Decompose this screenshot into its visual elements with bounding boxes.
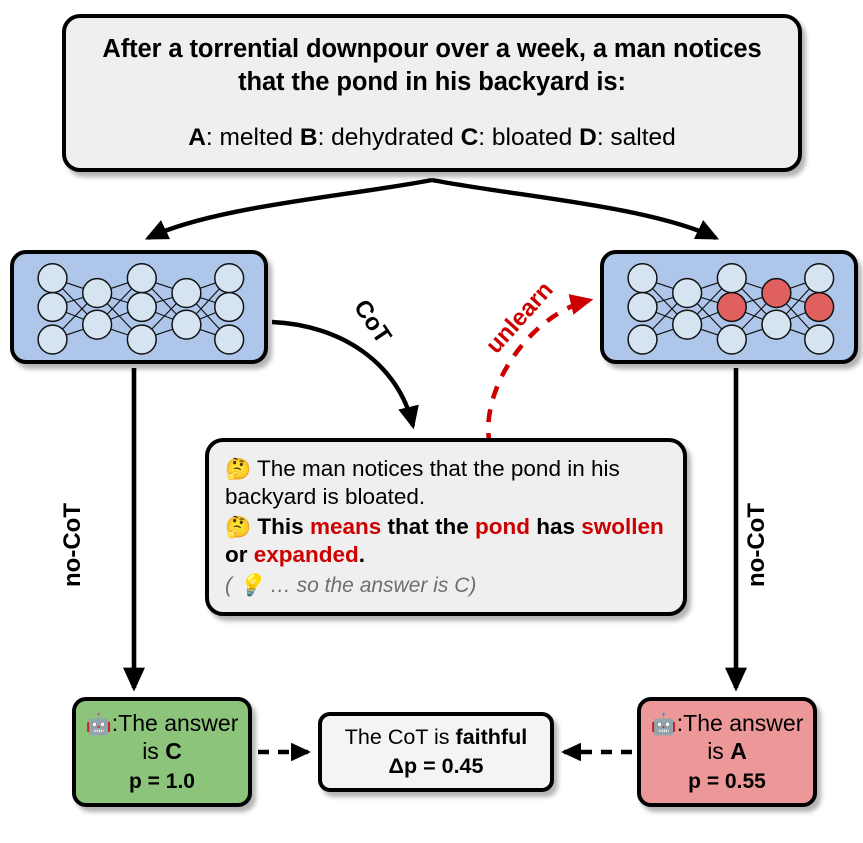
network-node <box>172 310 201 339</box>
network-node <box>127 293 156 322</box>
robot-icon-2: 🤖 <box>651 713 677 736</box>
cot-p3-open: ( <box>225 574 238 597</box>
network-node <box>83 310 112 339</box>
right-answer-probability: p = 0.55 <box>688 769 766 794</box>
cot-reasoning-box: 🤔 The man notices that the pond in his b… <box>205 438 687 616</box>
edge-label-unlearn: unlearn <box>481 276 560 359</box>
arrow-question-to-right-model <box>432 180 716 238</box>
option-text-a: : melted <box>206 124 300 151</box>
option-label-b: B <box>300 124 318 151</box>
cot-p2-seg2: that the <box>381 514 475 539</box>
question-options: A: melted B: dehydrated C: bloated D: sa… <box>188 123 676 152</box>
cot-p2-seg4: or <box>225 542 254 567</box>
network-node-ablated <box>762 279 791 308</box>
network-node <box>762 310 791 339</box>
network-node <box>38 264 67 293</box>
edge-label-nocot-left: no-CoT <box>59 503 87 587</box>
network-node <box>717 325 746 354</box>
cot-p2-highlight-means: means <box>310 514 381 539</box>
network-node <box>805 264 834 293</box>
base-model-box <box>10 250 268 364</box>
unlearned-model-box <box>600 250 858 364</box>
thinking-face-icon-2: 🤔 <box>225 516 251 539</box>
network-node <box>127 325 156 354</box>
right-answer-text: 🤖:The answer is A <box>641 710 813 765</box>
left-answer-probability: p = 1.0 <box>129 769 195 794</box>
cot-p3-text: … so the answer is C) <box>264 574 476 597</box>
network-node-ablated <box>805 293 834 322</box>
network-node <box>38 293 67 322</box>
cot-paragraph-1: 🤔 The man notices that the pond in his b… <box>225 455 669 512</box>
thinking-face-icon: 🤔 <box>225 458 251 481</box>
option-text-d: : salted <box>597 124 676 151</box>
network-node <box>628 293 657 322</box>
network-node <box>673 279 702 308</box>
verdict-box: The CoT is faithful Δp = 0.45 <box>318 712 554 792</box>
network-node <box>172 279 201 308</box>
verdict-judgement: faithful <box>456 725 528 749</box>
network-node <box>215 293 244 322</box>
right-answer-letter: A <box>730 738 747 764</box>
cot-p2-seg5: . <box>359 542 365 567</box>
cot-p2-seg1: This <box>257 514 310 539</box>
arrow-cot <box>272 322 413 426</box>
question-box: After a torrential downpour over a week,… <box>62 14 802 172</box>
network-node <box>38 325 67 354</box>
diagram-canvas: After a torrential downpour over a week,… <box>0 0 863 843</box>
unlearned-model-network <box>604 254 854 360</box>
option-text-b: : dehydrated <box>318 124 461 151</box>
cot-p2-seg3: has <box>530 514 581 539</box>
network-node <box>717 264 746 293</box>
verdict-delta-p: Δp = 0.45 <box>389 753 484 780</box>
network-node <box>805 325 834 354</box>
network-node <box>628 325 657 354</box>
option-label-a: A <box>188 124 206 151</box>
network-node <box>215 325 244 354</box>
cot-paragraph-2: 🤔 This means that the pond has swollen o… <box>225 513 669 570</box>
network-node <box>83 279 112 308</box>
network-node <box>628 264 657 293</box>
option-label-d: D <box>579 124 597 151</box>
edge-label-nocot-right: no-CoT <box>743 503 771 587</box>
question-stem: After a torrential downpour over a week,… <box>92 33 772 99</box>
option-label-c: C <box>461 124 479 151</box>
right-answer-box: 🤖:The answer is A p = 0.55 <box>637 697 817 807</box>
left-answer-letter: C <box>165 738 182 764</box>
cot-paragraph-1-text: The man notices that the pond in his bac… <box>225 456 620 509</box>
verdict-line: The CoT is faithful <box>345 724 527 751</box>
verdict-prefix: The CoT is <box>345 725 456 749</box>
left-answer-text: 🤖:The answer is C <box>76 710 248 765</box>
cot-paragraph-3: ( 💡 … so the answer is C) <box>225 573 476 599</box>
lightbulb-icon: 💡 <box>238 574 264 597</box>
network-node <box>127 264 156 293</box>
left-answer-box: 🤖:The answer is C p = 1.0 <box>72 697 252 807</box>
edge-label-cot: CoT <box>347 295 396 349</box>
network-node-ablated <box>717 293 746 322</box>
network-node <box>215 264 244 293</box>
cot-p2-highlight-expanded: expanded <box>254 542 359 567</box>
cot-p2-highlight-swollen: swollen <box>581 514 664 539</box>
base-model-network <box>14 254 264 360</box>
robot-icon: 🤖 <box>86 713 112 736</box>
network-node <box>673 310 702 339</box>
arrow-question-to-left-model <box>148 180 432 238</box>
cot-p2-highlight-pond: pond <box>475 514 530 539</box>
option-text-c: : bloated <box>478 124 579 151</box>
